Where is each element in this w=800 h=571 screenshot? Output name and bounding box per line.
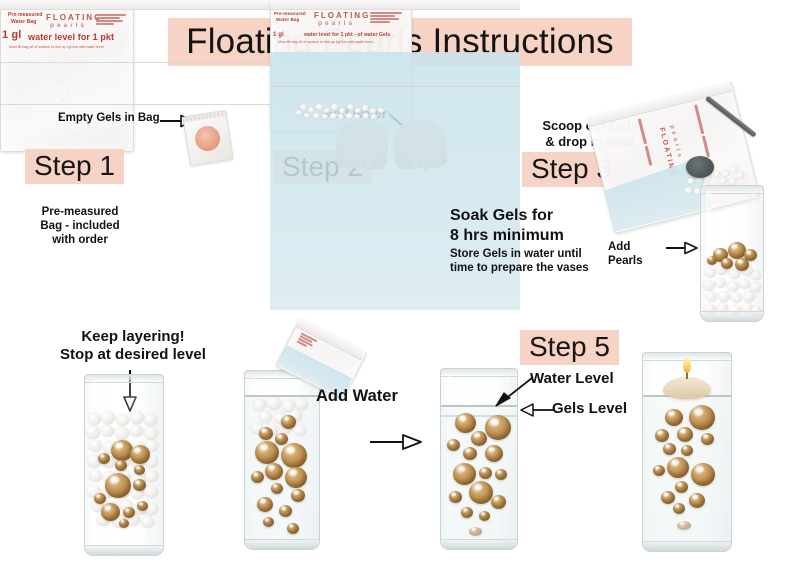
- step-2-bag-url-lines: [370, 12, 402, 24]
- pearl: [701, 433, 714, 445]
- floating-candle: [663, 377, 711, 399]
- step-1-bag-brand-top: FLOATING: [46, 13, 102, 22]
- step-1-note: Pre-measured Bag - included with order: [24, 205, 136, 247]
- pearl: [94, 493, 106, 504]
- step-2-bag-brand-bottom: pearls: [318, 20, 355, 27]
- pearl: [285, 467, 307, 488]
- pearl: [255, 441, 279, 464]
- step-3-vase: [700, 185, 764, 322]
- pearl: [291, 489, 305, 502]
- pearl: [735, 258, 749, 271]
- pearl: [259, 427, 273, 440]
- pearl: [653, 465, 665, 476]
- step-2-bag-premeasured-line2: Water Bag: [276, 17, 299, 22]
- gel-packet: [182, 110, 233, 166]
- scoop-spoon: [672, 104, 772, 196]
- pearl: [491, 495, 506, 509]
- pearl: [115, 460, 127, 471]
- pearl: [689, 493, 705, 508]
- pearl: [257, 497, 273, 512]
- pearl: [453, 463, 476, 485]
- pearl: [677, 427, 693, 442]
- pearl: [263, 517, 274, 527]
- pearl: [134, 465, 145, 475]
- arrow-right-open-icon: [370, 432, 426, 452]
- pearl: [449, 491, 462, 503]
- arrow-left-open-icon: [518, 402, 554, 418]
- step-1-water-bag: Pre-measured Water Bag FLOATING pearls 1…: [0, 0, 134, 152]
- pearl: [675, 481, 688, 493]
- pearl: [681, 445, 693, 456]
- pearl: [137, 501, 148, 511]
- pearl: [98, 453, 110, 464]
- step-5-water-level-label: Water Level: [530, 370, 640, 388]
- step-1-bag-premeasured-line2: Water Bag: [11, 19, 36, 25]
- step-1-group: Empty Gels in Bag Step 1 Pre-measured Ba…: [0, 0, 270, 310]
- pearl: [271, 483, 283, 494]
- pearl: [665, 409, 683, 426]
- arrow-right-open-icon: [666, 241, 700, 255]
- pearl: [281, 443, 307, 468]
- pearl: [485, 415, 511, 440]
- step-4-layering-vase: [84, 374, 164, 556]
- pearl: [275, 433, 288, 445]
- pearl: [463, 447, 477, 460]
- pearl: [287, 523, 299, 534]
- pearl: [469, 527, 482, 536]
- step-2-bag-brand-top: FLOATING: [314, 11, 370, 20]
- step-4-callout-left-label: Keep layering! Stop at desired level: [50, 328, 216, 365]
- step-1-badge: Step 1: [25, 149, 124, 184]
- pearl: [677, 521, 691, 530]
- pearl: [105, 473, 131, 498]
- pearl: [469, 481, 493, 504]
- step-2-bag-fineprint: Must lift bag off of surface to line up …: [278, 40, 373, 44]
- pearl: [663, 443, 676, 455]
- step-1-bag-headline: water level for 1 pkt: [28, 32, 114, 42]
- pearl: [123, 507, 135, 518]
- step-2-bag-volume: 1 gl: [273, 32, 284, 38]
- step-5-group: Step 5 Water Level: [420, 318, 800, 571]
- pearl: [667, 457, 689, 478]
- step-1-callout-label: Empty Gels in Bag: [58, 111, 168, 125]
- step-2-bag-premeasured-line1: Pre-measured: [274, 11, 306, 16]
- bag-water-fill: [270, 52, 412, 132]
- step-1-bag-premeasured-line1: Pre-measured: [8, 12, 43, 18]
- step-1-bag-volume: 1 gl: [2, 29, 21, 41]
- step-3-group: Scoop out Gels & drop in vase Step 3 FLO…: [510, 0, 800, 320]
- pearl: [471, 431, 487, 446]
- pearl: [673, 503, 685, 514]
- step-3-vase-callout-label: Add Pearls: [608, 240, 668, 268]
- pearl: [281, 415, 296, 429]
- step-2-water-bag: Pre-measured Water Bag FLOATING pearls 1…: [270, 0, 412, 132]
- pearl: [265, 463, 283, 480]
- pearl: [721, 258, 733, 269]
- pearl: [689, 405, 715, 430]
- infographic-canvas: Floating Pearls Instructions Empty Gels …: [0, 0, 800, 571]
- pearl: [455, 413, 476, 433]
- pearl: [251, 471, 264, 483]
- pearl: [447, 439, 460, 451]
- candle-flame: [683, 357, 691, 373]
- pearl: [655, 429, 669, 442]
- pearl: [691, 463, 715, 486]
- step-4-group: Keep layering! Stop at desired level Ste…: [0, 318, 420, 571]
- pearl: [133, 479, 146, 491]
- step-3-bag-side-lines: [638, 118, 653, 166]
- pearl: [101, 503, 120, 521]
- final-vase-with-candle: [642, 352, 732, 552]
- step-2-bag-headline: water level for 1 pkt - of water Gels: [304, 32, 390, 38]
- step-4-add-water-vase: [244, 370, 320, 550]
- pearl: [495, 469, 507, 480]
- pearl: [479, 467, 492, 479]
- step-1-bag-fineprint: Must lift bag off of surface to line up …: [9, 45, 104, 49]
- pearl: [119, 519, 129, 528]
- pearl: [485, 445, 503, 462]
- pearl: [479, 511, 490, 521]
- pearl: [279, 505, 292, 517]
- pearl: [461, 507, 473, 518]
- pearl: [707, 256, 717, 265]
- step-1-bag-url-lines: [96, 14, 126, 26]
- pearl: [661, 491, 675, 504]
- pearl: [130, 445, 150, 464]
- step-1-bag-brand-bottom: pearls: [50, 22, 87, 29]
- step-4-callout-right-label: Add Water: [316, 386, 416, 406]
- step-5-badge: Step 5: [520, 330, 619, 365]
